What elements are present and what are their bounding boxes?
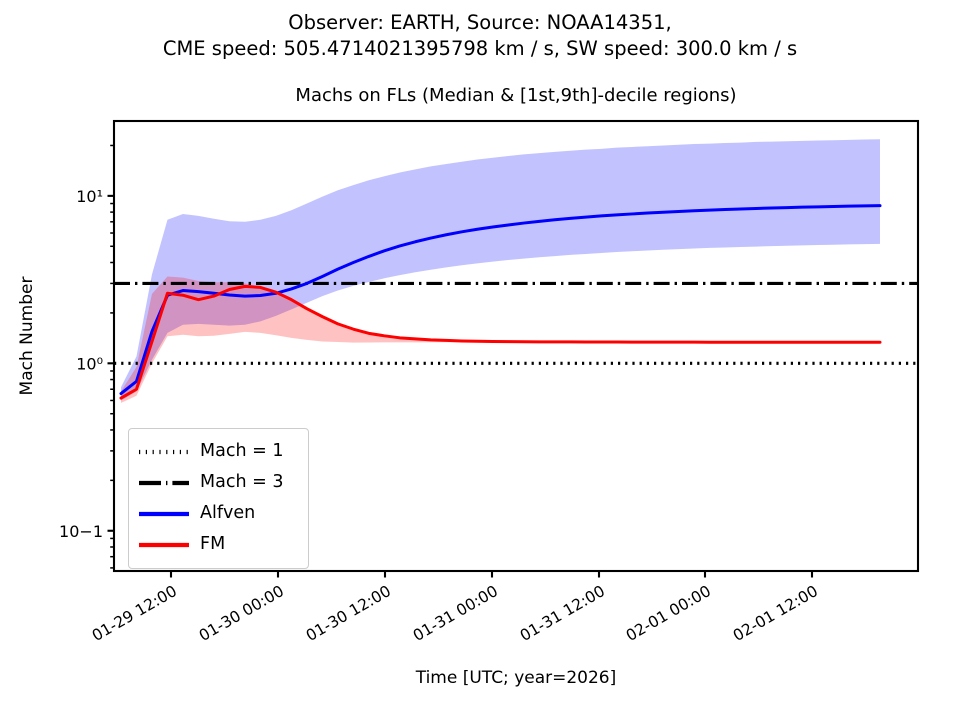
legend-label-mach-3: Mach = 3 bbox=[200, 474, 283, 492]
legend-swatch-alfven-icon bbox=[138, 505, 190, 523]
legend-swatch-fm-icon bbox=[138, 536, 190, 554]
legend-item-mach-3[interactable]: Mach = 3 bbox=[138, 467, 299, 498]
legend-label-alfven: Alfven bbox=[200, 505, 255, 523]
legend-swatch-mach-1-icon bbox=[138, 443, 190, 461]
legend-label-fm: FM bbox=[200, 536, 225, 554]
legend-label-mach-1: Mach = 1 bbox=[200, 443, 283, 461]
y-tick-group: 10−110⁰10¹ bbox=[59, 145, 114, 567]
chart-legend[interactable]: Mach = 1 Mach = 3 Alfven FM bbox=[128, 428, 309, 569]
legend-swatch-mach-3-icon bbox=[138, 474, 190, 492]
legend-item-alfven[interactable]: Alfven bbox=[138, 498, 299, 529]
legend-item-mach-1[interactable]: Mach = 1 bbox=[138, 436, 299, 467]
decile-band-group bbox=[121, 139, 880, 403]
y-tick-label: 10¹ bbox=[76, 187, 103, 206]
legend-item-fm[interactable]: FM bbox=[138, 529, 299, 560]
y-tick-label: 10⁰ bbox=[76, 354, 103, 373]
y-tick-label: 10−1 bbox=[59, 522, 103, 541]
figure-canvas: Observer: EARTH, Source: NOAA14351, CME … bbox=[0, 0, 960, 720]
decile-band-alfven bbox=[121, 139, 880, 400]
